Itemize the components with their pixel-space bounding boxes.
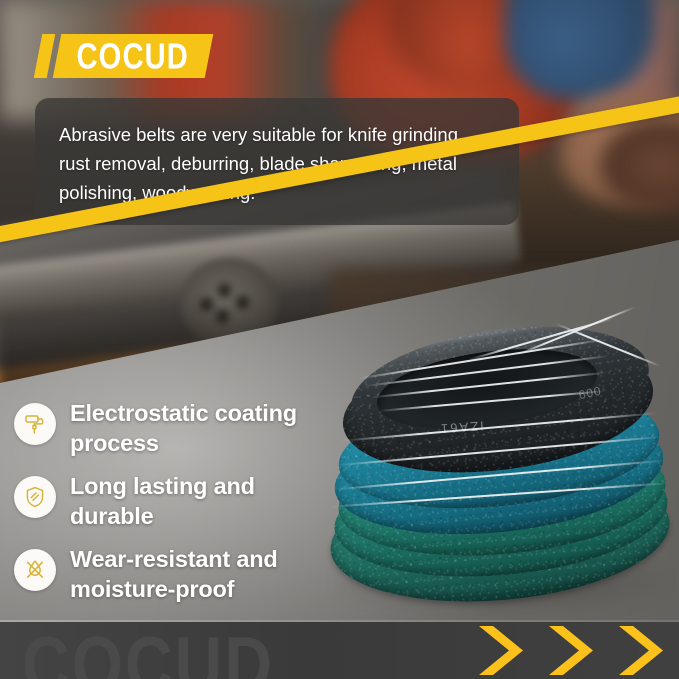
no-moisture-icon	[14, 549, 56, 591]
feature-label: Electrostatic coating process	[70, 398, 344, 458]
product-marketing-poster: COCUD Abrasive belts are very suitable f…	[0, 0, 679, 679]
feature-list: Electrostatic coating process Long lasti…	[14, 398, 344, 617]
footer-watermark: COCUD	[22, 625, 274, 679]
chevron-group	[473, 622, 669, 679]
shield-icon	[14, 476, 56, 518]
product-image: IZA61 009	[316, 322, 679, 622]
feature-item-wear-resistant: Wear-resistant and moisture-proof	[14, 544, 344, 604]
feature-item-long-lasting: Long lasting and durable	[14, 471, 344, 531]
chevron-right-icon	[613, 622, 669, 679]
feature-label: Long lasting and durable	[70, 471, 344, 531]
brand-logo: COCUD	[38, 34, 209, 78]
chevron-right-icon	[543, 622, 599, 679]
description-text: Abrasive belts are very suitable for kni…	[59, 120, 495, 207]
feature-label: Wear-resistant and moisture-proof	[70, 544, 344, 604]
footer-banner: COCUD	[0, 622, 679, 679]
chevron-right-icon	[473, 622, 529, 679]
logo-plate: COCUD	[53, 34, 213, 78]
feature-item-electrostatic-coating: Electrostatic coating process	[14, 398, 344, 458]
brand-name: COCUD	[77, 38, 189, 74]
paint-roller-icon	[14, 403, 56, 445]
